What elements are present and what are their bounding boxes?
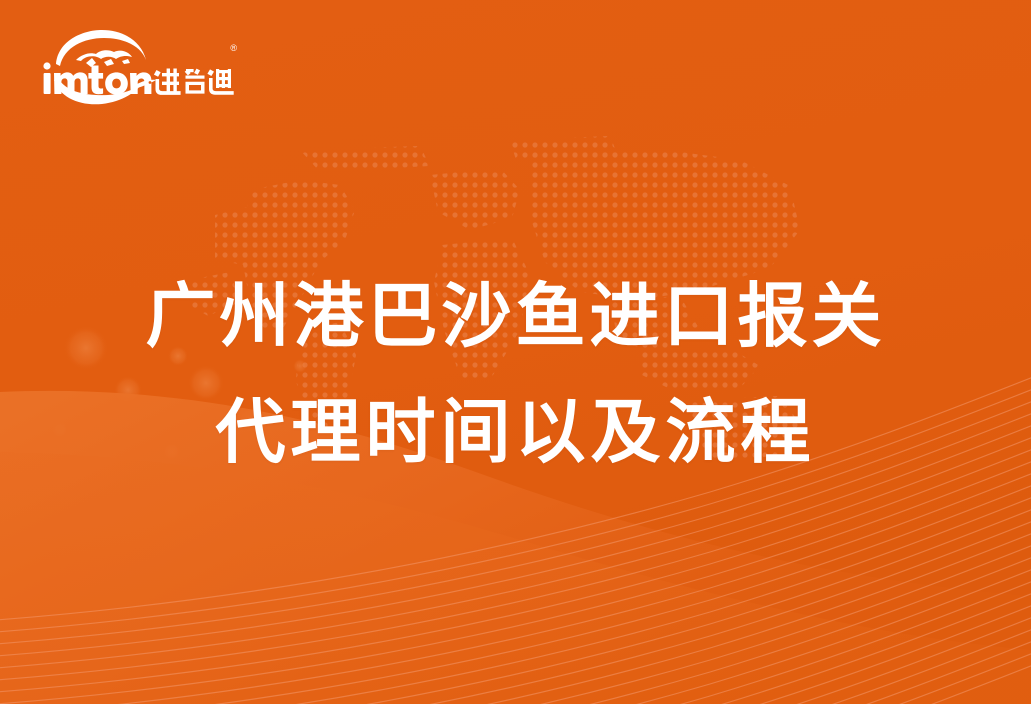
registered-mark: ® — [230, 44, 237, 53]
logo[interactable]: ® — [38, 24, 238, 106]
page-title: 广州港巴沙鱼进口报关 代理时间以及流程 — [0, 258, 1031, 490]
title-line-1: 广州港巴沙鱼进口报关 — [0, 258, 1031, 374]
banner-poster: ® 广州港巴沙鱼进口报关 代理时间以及流程 — [0, 0, 1031, 704]
imton-logo-mark — [38, 24, 238, 106]
logo-chinese-text — [154, 69, 234, 95]
globe-icon — [56, 30, 146, 67]
title-line-2: 代理时间以及流程 — [0, 374, 1031, 490]
